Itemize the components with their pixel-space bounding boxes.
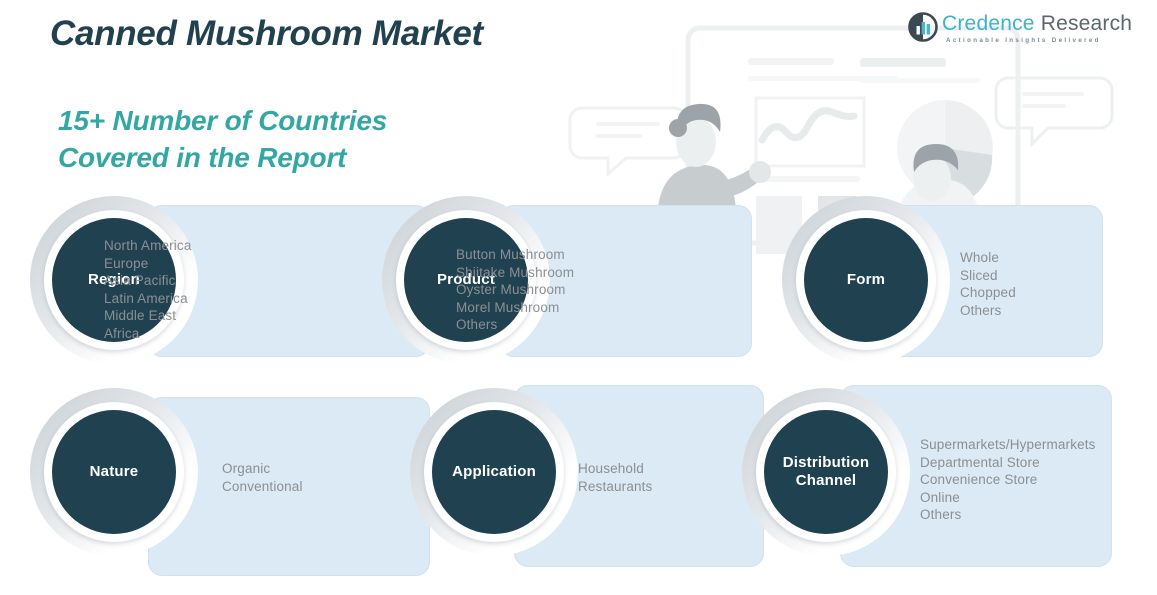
list-item: Africa [104,325,420,343]
list-item: Oyster Mushroom [456,281,742,299]
bar-chart-circle-icon [908,12,938,42]
segment-card-distribution-channel: Distribution Channel Supermarkets/Hyperm… [742,388,1157,576]
segment-label-nature: Nature [52,410,176,534]
page-title: Canned Mushroom Market [50,14,483,54]
list-item: Others [456,316,742,334]
segment-card-application: Application Household Restaurants [410,388,770,576]
list-item: Shiitake Mushroom [456,264,742,282]
segment-items-product: Button Mushroom Shiitake Mushroom Oyster… [456,246,742,334]
list-item: North America [104,237,420,255]
segment-label-form: Form [804,218,928,342]
segment-label-distribution-channel: Distribution Channel [764,410,888,534]
logo-tagline: Actionable Insights Delivered [946,37,1101,44]
logo-name-primary: Credence [942,12,1035,35]
list-item: Supermarkets/Hypermarkets [920,436,1147,454]
segment-items-application: Household Restaurants [578,460,760,495]
segment-items-distribution-channel: Supermarkets/Hypermarkets Departmental S… [920,436,1147,524]
subtitle-line-1: 15+ Number of Countries [58,102,387,139]
list-item: Whole [960,249,1147,267]
list-item: Organic [222,460,420,478]
list-item: Europe [104,255,420,273]
list-item: Asia Pacific [104,272,420,290]
segment-items-region: North America Europe Asia Pacific Latin … [104,237,420,342]
list-item: Button Mushroom [456,246,742,264]
list-item: Online [920,489,1147,507]
list-item: Departmental Store [920,454,1147,472]
list-item: Others [920,506,1147,524]
segment-items-nature: Organic Conventional [222,460,420,495]
segment-card-form: Form Whole Sliced Chopped Others [782,196,1157,366]
list-item: Middle East [104,307,420,325]
logo-name-secondary: Research [1041,12,1132,35]
segment-label-line-2: Channel [796,472,857,489]
segment-label-application: Application [432,410,556,534]
list-item: Household [578,460,760,478]
logo-wordmark: Credence Research [942,12,1132,36]
list-item: Restaurants [578,478,760,496]
list-item: Latin America [104,290,420,308]
subtitle-line-2: Covered in the Report [58,139,387,176]
credence-research-logo: Credence Research Actionable Insights De… [908,12,1098,48]
list-item: Convenience Store [920,471,1147,489]
list-item: Chopped [960,284,1147,302]
segment-items-form: Whole Sliced Chopped Others [960,249,1147,319]
list-item: Others [960,302,1147,320]
segment-card-nature: Nature Organic Conventional [30,388,430,576]
list-item: Morel Mushroom [456,299,742,317]
list-item: Conventional [222,478,420,496]
subtitle: 15+ Number of Countries Covered in the R… [58,102,387,176]
segment-card-region: Region North America Europe Asia Pacific… [30,196,430,366]
list-item: Sliced [960,267,1147,285]
segment-card-product: Product Button Mushroom Shiitake Mushroo… [382,196,752,366]
segment-label-line-1: Distribution [783,454,870,471]
